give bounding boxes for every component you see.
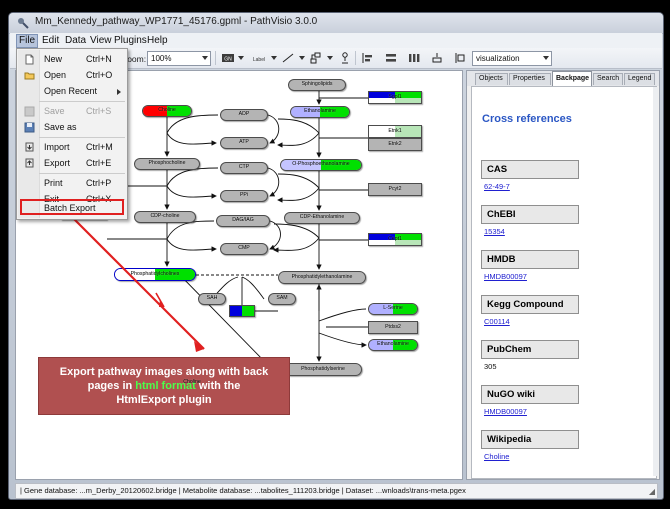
- import-icon: [24, 142, 35, 153]
- pathway-node-dag_iag[interactable]: DAG/IAG: [216, 215, 270, 227]
- menu-item-print[interactable]: Print Ctrl+P: [18, 176, 126, 191]
- tab-backpage[interactable]: Backpage: [552, 71, 592, 86]
- menu-item-label: Save: [44, 106, 65, 116]
- node-fill-left: [369, 126, 395, 137]
- xref-value-chebi[interactable]: 15354: [484, 227, 505, 236]
- pathway-node-pcyt2[interactable]: Pcyt2: [368, 183, 422, 196]
- pathway-node-sah[interactable]: SAH: [198, 293, 226, 305]
- xref-header-wikipedia: Wikipedia: [481, 430, 579, 449]
- callout-line1: Export pathway images along with back: [60, 366, 268, 378]
- callout-line3: HtmlExport plugin: [116, 394, 211, 406]
- node-label: Phosphocholine: [149, 161, 186, 166]
- resize-grip-icon[interactable]: ◢: [649, 487, 655, 496]
- status-bar: | Gene database: ...m_Derby_20120602.bri…: [15, 483, 658, 499]
- menu-item-accel: Ctrl+O: [86, 70, 112, 80]
- node-label: Phosphatidylserine: [301, 367, 345, 372]
- svg-text:GN: GN: [224, 57, 232, 63]
- menu-file[interactable]: File: [16, 34, 38, 48]
- menu-item-import[interactable]: Import Ctrl+M: [18, 140, 126, 155]
- node-fill-right: [395, 126, 421, 137]
- menu-separator: [39, 173, 125, 174]
- tab-properties[interactable]: Properties: [509, 73, 551, 85]
- node-label: CDP-Ethanolamine: [300, 215, 344, 220]
- title-bar: Mm_Kennedy_pathway_WP1771_45176.gpml - P…: [9, 13, 663, 34]
- menu-edit[interactable]: Edit: [39, 34, 62, 48]
- node-label: CMP: [238, 246, 250, 251]
- menu-item-accel: Ctrl+E: [86, 158, 111, 168]
- pathway-node-ptdethanolamine[interactable]: Phosphatidylethanolamine: [278, 271, 366, 284]
- pathway-node-etnk1[interactable]: Etnk1: [368, 125, 422, 138]
- node-fill-br: [395, 98, 421, 104]
- node-fill-right: [167, 106, 191, 116]
- visualization-combo[interactable]: visualization: [472, 51, 552, 66]
- align-left-button[interactable]: [361, 51, 375, 65]
- menu-item-label: Export: [44, 158, 70, 168]
- node-fill-left: [369, 340, 393, 350]
- panel-tab-strip: Objects Properties Backpage Search Legen…: [467, 71, 659, 86]
- open-folder-icon: [24, 70, 35, 81]
- pathway-node-sgpl1[interactable]: Sgpl1: [368, 91, 422, 104]
- pathway-node-choline_top[interactable]: Choline: [142, 105, 192, 117]
- xref-label: NuGO wiki: [482, 389, 535, 400]
- pathway-node-ethanolamine_top[interactable]: Ethanolamine: [290, 106, 350, 118]
- window-title: Mm_Kennedy_pathway_WP1771_45176.gpml - P…: [35, 16, 317, 27]
- node-label: DAG/IAG: [232, 218, 254, 223]
- menu-separator: [39, 137, 125, 138]
- panel-scrollbar[interactable]: [653, 87, 658, 476]
- menu-item-label: Open Recent: [44, 86, 97, 96]
- node-fill-left: [230, 306, 242, 316]
- pathway-node-ptdss2[interactable]: Ptdss2: [368, 321, 418, 334]
- toolbar-separator: [215, 51, 216, 65]
- save-as-icon: [24, 122, 35, 133]
- xref-value-kegg[interactable]: C00114: [484, 317, 510, 326]
- chevron-down-icon: [543, 56, 549, 60]
- annotation-text: Export pathway images along with back pa…: [54, 365, 274, 407]
- chevron-down-icon: [202, 56, 208, 60]
- node-fill-right: [393, 340, 417, 350]
- pathway-node-ptdserine[interactable]: Phosphatidylserine: [284, 363, 362, 376]
- node-fill-bl: [369, 240, 395, 246]
- node-fill-right: [155, 269, 195, 280]
- label-dropdown-icon[interactable]: [271, 56, 277, 60]
- menu-item-open[interactable]: Open Ctrl+O: [18, 68, 126, 83]
- menu-item-label: Open: [44, 70, 66, 80]
- node-label: Ptdss2: [385, 325, 401, 330]
- node-label: PPi: [240, 193, 248, 198]
- callout-line2-a: pages in: [88, 380, 136, 392]
- label-button[interactable]: Label: [248, 51, 270, 65]
- menu-item-save-as[interactable]: Save as: [18, 120, 126, 135]
- tab-legend[interactable]: Legend: [624, 73, 655, 85]
- order-button[interactable]: [453, 51, 467, 65]
- menu-item-accel: Ctrl+M: [86, 142, 113, 152]
- line-dropdown-icon[interactable]: [299, 56, 305, 60]
- xref-value-hmdb[interactable]: HMDB00097: [484, 272, 527, 281]
- menu-help[interactable]: Help: [144, 34, 171, 48]
- pathway-node-sam[interactable]: SAM: [268, 293, 296, 305]
- pathway-node-cdp_choline[interactable]: CDP-choline: [134, 211, 196, 223]
- node-label: Phosphatidylethanolamine: [292, 275, 353, 280]
- xref-label: CAS: [482, 164, 507, 175]
- node-fill-right: [320, 107, 349, 117]
- xref-label: Kegg Compound: [482, 299, 564, 310]
- pathway-node-l_serine[interactable]: L-Serine: [368, 303, 418, 315]
- xref-header-pubchem: PubChem: [481, 340, 579, 359]
- pathway-node-ppi[interactable]: PPi: [220, 190, 268, 202]
- datanode-dropdown-icon[interactable]: [238, 56, 244, 60]
- pathway-node-etnk2[interactable]: Etnk2: [368, 138, 422, 151]
- menu-item-accel: Ctrl+S: [86, 106, 111, 116]
- node-fill-left: [115, 269, 155, 280]
- callout-line2-b: with the: [196, 380, 241, 392]
- xref-value-pubchem: 305: [484, 362, 497, 371]
- xref-header-nugo: NuGO wiki: [481, 385, 579, 404]
- menu-data[interactable]: Data: [62, 34, 89, 48]
- file-menu-dropdown[interactable]: New Ctrl+N Open Ctrl+O Open Recent Save …: [16, 48, 128, 220]
- size-button[interactable]: [430, 51, 444, 65]
- shape-button[interactable]: [338, 51, 352, 65]
- tab-objects[interactable]: Objects: [475, 73, 508, 85]
- node-label: SAH: [207, 296, 218, 301]
- pathway-node-pemt[interactable]: [229, 305, 255, 317]
- callout-highlight: html format: [135, 380, 196, 392]
- pathway-node-ethanolamine_bot[interactable]: Ethanolamine: [368, 339, 418, 351]
- menu-item-accel: Ctrl+P: [86, 178, 111, 188]
- zoom-value: 100%: [151, 54, 171, 63]
- application-window: Mm_Kennedy_pathway_WP1771_45176.gpml - P…: [8, 12, 664, 500]
- node-label: ADP: [239, 112, 250, 117]
- menu-separator: [39, 101, 125, 102]
- menu-item-save: Save Ctrl+S: [18, 104, 126, 119]
- side-panel: Objects Properties Backpage Search Legen…: [466, 70, 660, 480]
- pathway-node-phosphocholine[interactable]: Phosphocholine: [134, 158, 200, 170]
- node-label: Pcyt2: [389, 187, 402, 192]
- node-fill-left: [143, 106, 167, 116]
- backpage-content[interactable]: Cross references CAS 62-49-7 ChEBI 15354…: [471, 86, 657, 479]
- annotation-callout: Export pathway images along with back pa…: [38, 357, 290, 415]
- menu-item-accel: Ctrl+N: [86, 54, 112, 64]
- menu-item-label: Import: [44, 142, 70, 152]
- xref-header-kegg: Kegg Compound: [481, 295, 579, 314]
- pathway-node-sphingolipids[interactable]: Sphingolipids: [288, 79, 346, 91]
- zoom-combo[interactable]: 100%: [147, 51, 211, 66]
- export-icon: [24, 158, 35, 169]
- anchor-button[interactable]: [309, 51, 323, 65]
- menu-item-label: Print: [44, 178, 63, 188]
- menu-item-label: New: [44, 54, 62, 64]
- menu-item-new[interactable]: New Ctrl+N: [18, 52, 126, 67]
- xref-label: Wikipedia: [482, 434, 531, 445]
- xref-label: HMDB: [482, 254, 516, 265]
- pathway-node-cdp_ethanolamine[interactable]: CDP-Ethanolamine: [284, 212, 360, 224]
- anchor-dropdown-icon[interactable]: [327, 56, 333, 60]
- pathway-node-ptdcholines[interactable]: Phosphatidylcholines: [114, 268, 196, 281]
- cross-references-title: Cross references: [482, 113, 572, 125]
- node-label: Etnk2: [388, 142, 401, 147]
- tab-search[interactable]: Search: [593, 73, 623, 85]
- pathway-node-ctp[interactable]: CTP: [220, 162, 268, 174]
- node-label: ATP: [239, 140, 249, 145]
- batch-export-highlight: [20, 199, 124, 215]
- node-fill-left: [281, 160, 321, 170]
- visualization-value: visualization: [476, 54, 520, 63]
- xref-header-chebi: ChEBI: [481, 205, 579, 224]
- xref-value-cas[interactable]: 62-49-7: [484, 182, 510, 191]
- node-label: SAM: [276, 296, 287, 301]
- svg-text:Label: Label: [253, 57, 265, 63]
- pathvisio-icon: [17, 17, 29, 29]
- xref-header-cas: CAS: [481, 160, 579, 179]
- pathway-node-cept1[interactable]: Cept1: [368, 233, 422, 246]
- menu-bar: File Edit Data View Plugins Help: [10, 33, 662, 49]
- node-fill-left: [369, 304, 393, 314]
- pathway-node-atp[interactable]: ATP: [220, 137, 268, 149]
- node-fill-right: [321, 160, 361, 170]
- menu-item-export[interactable]: Export Ctrl+E: [18, 156, 126, 171]
- node-fill-left: [291, 107, 320, 117]
- xref-value-nugo[interactable]: HMDB00097: [484, 407, 527, 416]
- node-fill-bl: [369, 98, 395, 104]
- node-fill-br: [395, 240, 421, 246]
- xref-value-wikipedia[interactable]: Choline: [484, 452, 509, 461]
- status-text: | Gene database: ...m_Derby_20120602.bri…: [20, 486, 466, 495]
- distribute-button[interactable]: [407, 51, 421, 65]
- xref-header-hmdb: HMDB: [481, 250, 579, 269]
- xref-label: PubChem: [482, 344, 531, 355]
- align-stack-button[interactable]: [384, 51, 398, 65]
- screenshot-frame: Mm_Kennedy_pathway_WP1771_45176.gpml - P…: [0, 0, 670, 509]
- node-label: CTP: [239, 165, 249, 170]
- menu-item-label: Save as: [44, 122, 77, 132]
- toolbar-separator: [355, 51, 356, 65]
- save-icon: [24, 106, 35, 117]
- node-label: CDP-choline: [150, 214, 179, 219]
- menu-item-open-recent[interactable]: Open Recent: [18, 84, 126, 99]
- new-file-icon: [24, 54, 35, 65]
- xref-label: ChEBI: [482, 209, 516, 220]
- line-button[interactable]: [281, 51, 295, 65]
- node-label: Sphingolipids: [302, 82, 333, 87]
- datanode-button[interactable]: GN: [221, 51, 235, 65]
- node-fill-right: [393, 304, 417, 314]
- pathway-node-adp[interactable]: ADP: [220, 109, 268, 121]
- pathway-node-ophosphoethanol[interactable]: O-Phosphoethanolamine: [280, 159, 362, 171]
- node-fill-right: [242, 306, 254, 316]
- chevron-right-icon: [117, 89, 121, 95]
- pathway-node-cmp[interactable]: CMP: [220, 243, 268, 255]
